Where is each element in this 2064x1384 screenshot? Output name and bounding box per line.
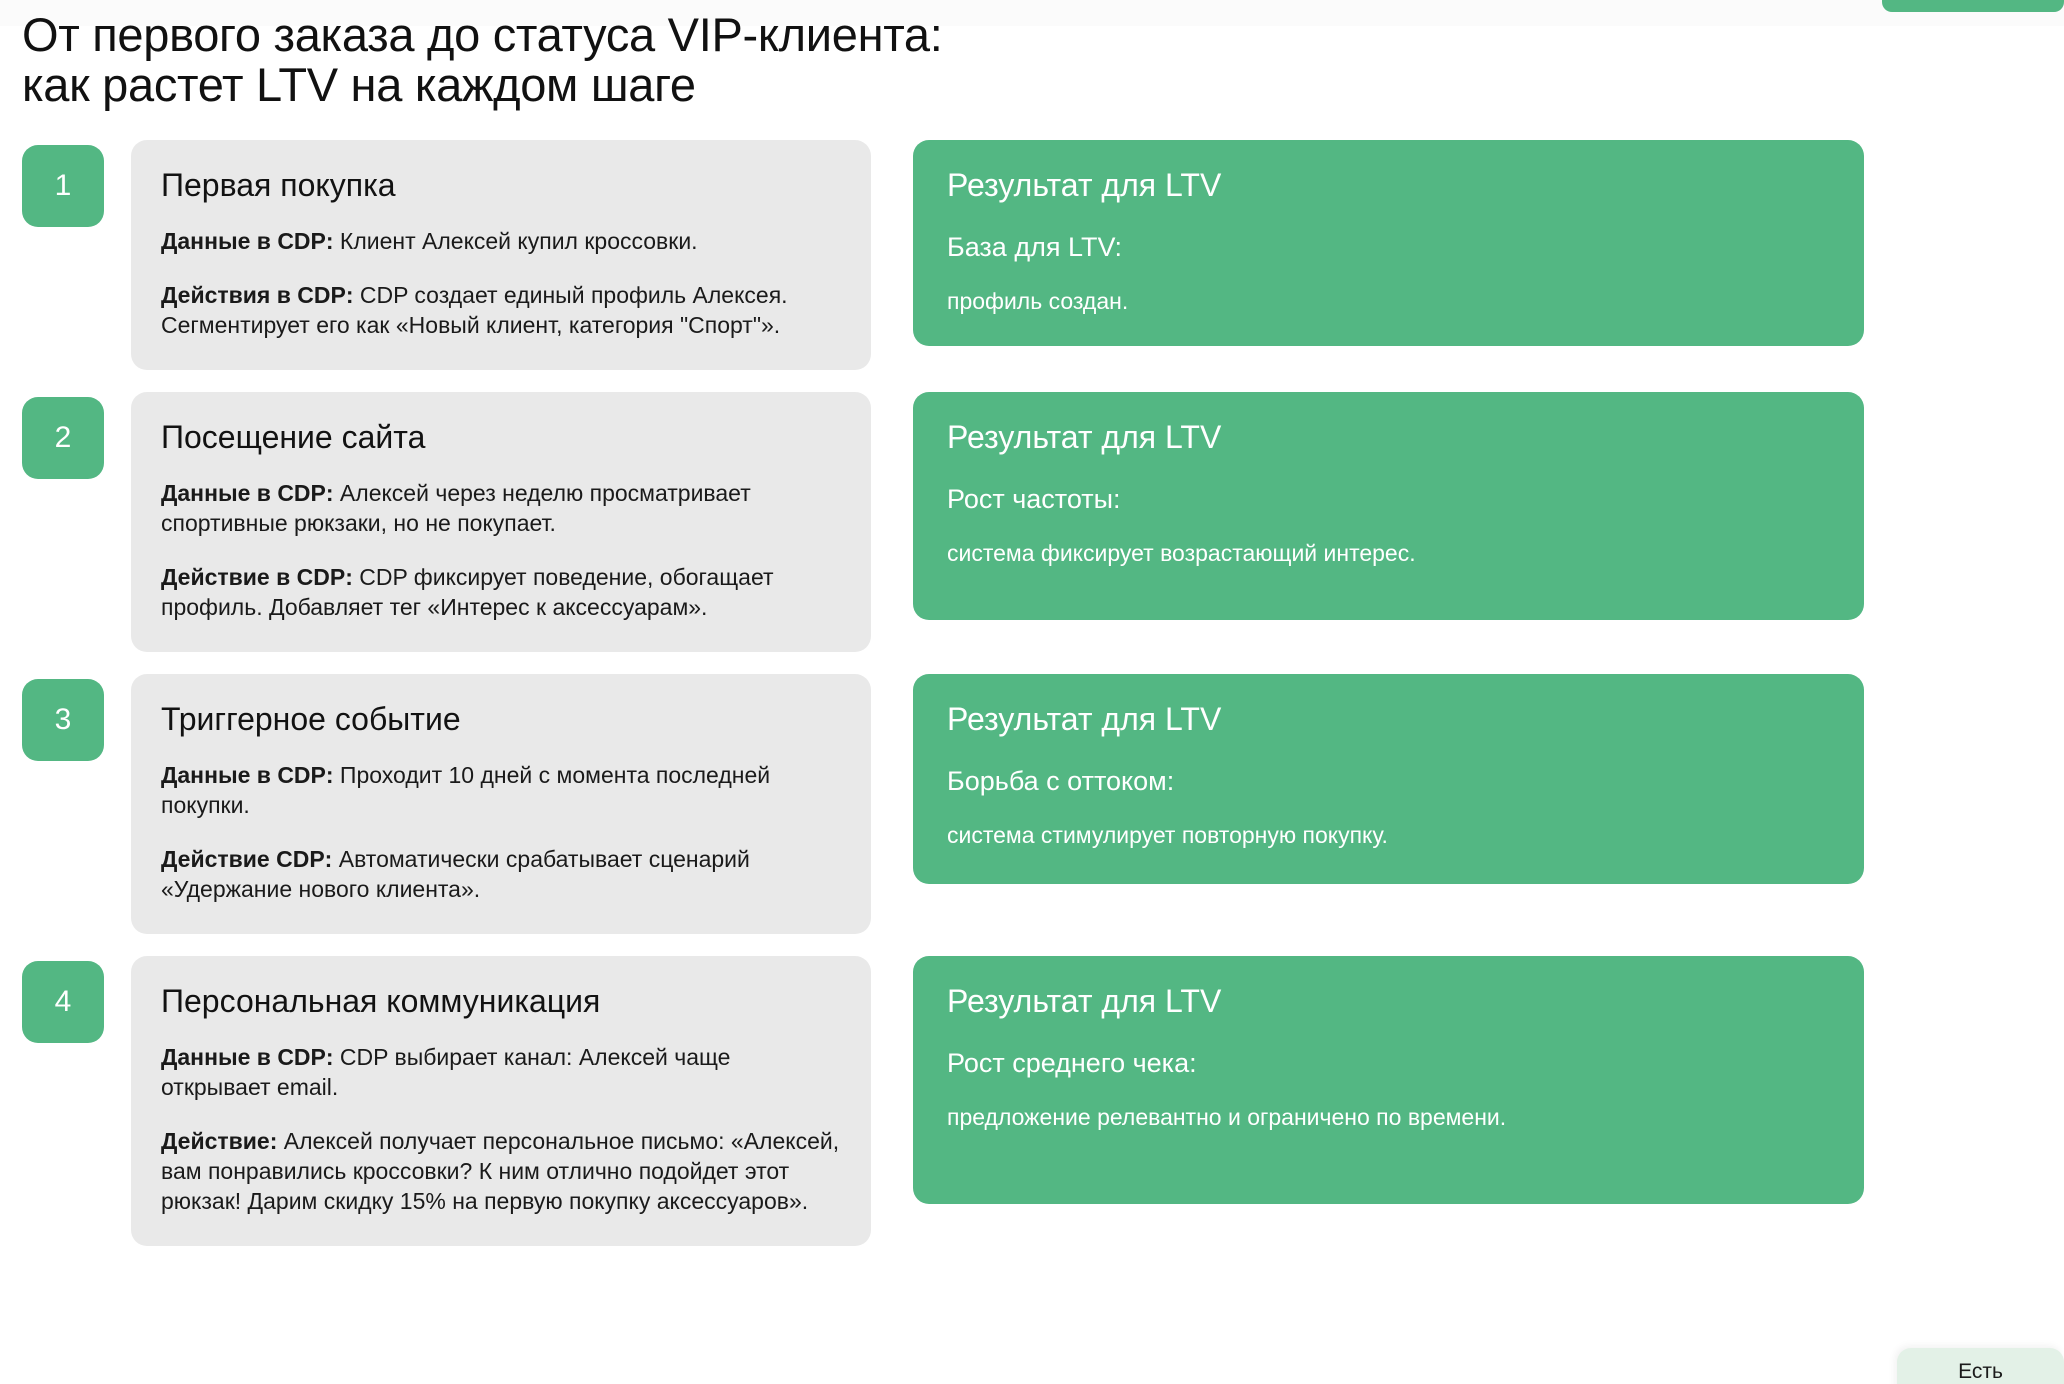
steps-list: 1 Первая покупка Данные в CDP: Клиент Ал…: [0, 140, 2064, 1268]
step-data-label: Данные в CDP:: [161, 1044, 334, 1070]
step-data-paragraph: Данные в CDP: Проходит 10 дней с момента…: [161, 760, 841, 820]
result-title: Результат для LTV: [947, 982, 1830, 1020]
step-card: Персональная коммуникация Данные в CDP: …: [131, 956, 871, 1246]
step-heading: Первая покупка: [161, 166, 841, 204]
result-detail: система фиксирует возрастающий интерес.: [947, 538, 1830, 568]
step-number-badge: 1: [22, 145, 104, 227]
slide-canvas: От первого заказа до статуса VIP-клиента…: [0, 0, 2064, 1384]
step-action-label: Действие в CDP:: [161, 564, 353, 590]
step-action-paragraph: Действия в CDP: CDP создает единый профи…: [161, 280, 841, 340]
result-card: Результат для LTV База для LTV: профиль …: [913, 140, 1864, 346]
step-card: Посещение сайта Данные в CDP: Алексей че…: [131, 392, 871, 652]
step-row: 4 Персональная коммуникация Данные в CDP…: [0, 956, 2064, 1246]
step-action-label: Действие CDP:: [161, 846, 332, 872]
step-action-paragraph: Действие CDP: Автоматически срабатывает …: [161, 844, 841, 904]
step-number-badge: 2: [22, 397, 104, 479]
step-row: 1 Первая покупка Данные в CDP: Клиент Ал…: [0, 140, 2064, 370]
step-data-label: Данные в CDP:: [161, 762, 334, 788]
chat-widget-label: Есть: [1958, 1360, 2003, 1384]
page-title: От первого заказа до статуса VIP-клиента…: [22, 10, 1522, 110]
step-action-label: Действия в CDP:: [161, 282, 354, 308]
step-data-paragraph: Данные в CDP: Алексей через неделю просм…: [161, 478, 841, 538]
chat-widget[interactable]: Есть: [1897, 1348, 2064, 1384]
result-detail: система стимулирует повторную покупку.: [947, 820, 1830, 850]
step-heading: Персональная коммуникация: [161, 982, 841, 1020]
result-card: Результат для LTV Борьба с оттоком: сист…: [913, 674, 1864, 884]
result-lead: Борьба с оттоком:: [947, 764, 1830, 798]
result-lead: Рост среднего чека:: [947, 1046, 1830, 1080]
result-lead: База для LTV:: [947, 230, 1830, 264]
step-heading: Триггерное событие: [161, 700, 841, 738]
result-detail: профиль создан.: [947, 286, 1830, 316]
step-number-badge: 3: [22, 679, 104, 761]
step-action-paragraph: Действие: Алексей получает персональное …: [161, 1126, 841, 1216]
step-row: 2 Посещение сайта Данные в CDP: Алексей …: [0, 392, 2064, 652]
result-card: Результат для LTV Рост среднего чека: пр…: [913, 956, 1864, 1204]
step-row: 3 Триггерное событие Данные в CDP: Прохо…: [0, 674, 2064, 934]
step-action-label: Действие:: [161, 1128, 277, 1154]
step-heading: Посещение сайта: [161, 418, 841, 456]
step-data-label: Данные в CDP:: [161, 228, 334, 254]
step-data-label: Данные в CDP:: [161, 480, 334, 506]
result-title: Результат для LTV: [947, 166, 1830, 204]
step-card: Первая покупка Данные в CDP: Клиент Алек…: [131, 140, 871, 370]
result-detail: предложение релевантно и ограничено по в…: [947, 1102, 1830, 1132]
result-lead: Рост частоты:: [947, 482, 1830, 516]
result-title: Результат для LTV: [947, 700, 1830, 738]
step-data-paragraph: Данные в CDP: CDP выбирает канал: Алексе…: [161, 1042, 841, 1102]
step-data-paragraph: Данные в CDP: Клиент Алексей купил кросс…: [161, 226, 841, 256]
result-title: Результат для LTV: [947, 418, 1830, 456]
step-action-paragraph: Действие в CDP: CDP фиксирует поведение,…: [161, 562, 841, 622]
step-card: Триггерное событие Данные в CDP: Проходи…: [131, 674, 871, 934]
step-data-text: Клиент Алексей купил кроссовки.: [334, 228, 698, 254]
top-green-tab[interactable]: [1882, 0, 2064, 12]
step-number-badge: 4: [22, 961, 104, 1043]
result-card: Результат для LTV Рост частоты: система …: [913, 392, 1864, 620]
